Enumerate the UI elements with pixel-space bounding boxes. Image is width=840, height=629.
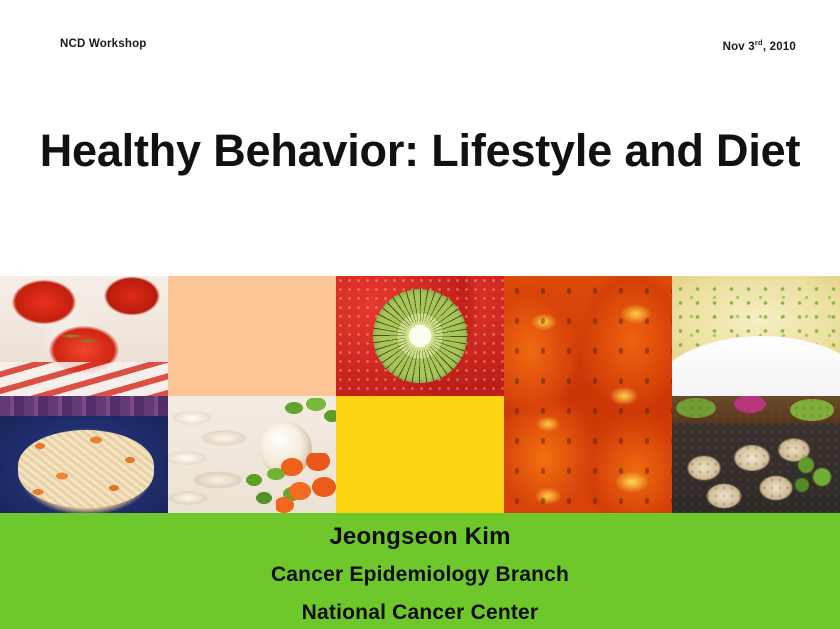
slide-date: Nov 3rd, 2010: [723, 38, 796, 53]
slide-title: Healthy Behavior: Lifestyle and Diet: [0, 126, 840, 176]
slide-header: NCD Workshop Nov 3rd, 2010: [0, 38, 840, 58]
yellow-color-block: [336, 396, 504, 513]
food-collage: [0, 276, 840, 513]
fried-rice-photo: [0, 396, 168, 513]
presenter-affiliation-branch: Cancer Epidemiology Branch: [0, 563, 840, 587]
strawberries-kiwi-photo: [336, 276, 504, 396]
date-superscript: rd: [755, 38, 763, 47]
presenter-band: Jeongseon Kim Cancer Epidemiology Branch…: [0, 513, 840, 629]
mushroom-vegetables-photo: [168, 396, 336, 513]
presenter-affiliation-institution: National Cancer Center: [0, 601, 840, 625]
date-suffix: , 2010: [763, 41, 796, 53]
workshop-label: NCD Workshop: [60, 38, 147, 50]
tomatoes-on-cloth-photo: [0, 276, 168, 396]
sliced-tomato-photo: [504, 276, 672, 513]
date-prefix: Nov 3: [723, 41, 755, 53]
peach-color-block: [168, 276, 336, 396]
presentation-title-slide: NCD Workshop Nov 3rd, 2010 Healthy Behav…: [0, 0, 840, 629]
presenter-name: Jeongseon Kim: [0, 523, 840, 551]
stuffed-mushrooms-photo: [672, 396, 840, 513]
cream-soup-photo: [672, 276, 840, 396]
